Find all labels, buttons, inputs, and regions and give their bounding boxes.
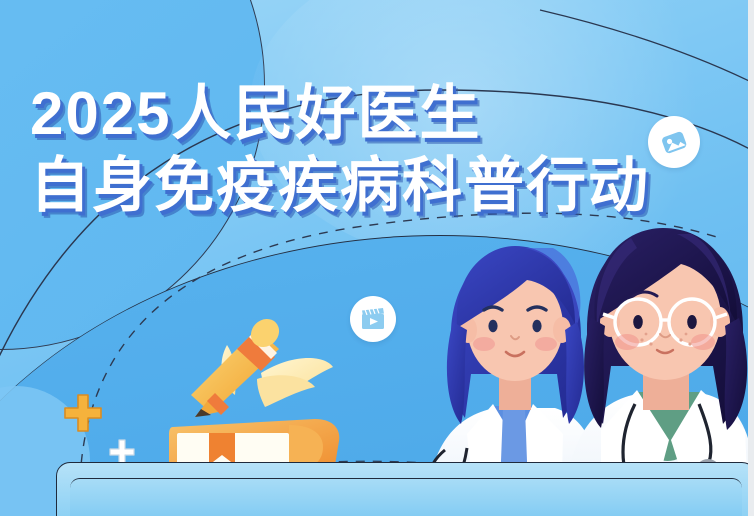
image-icon [659, 127, 689, 157]
video-badge[interactable] [350, 296, 396, 342]
title-line-2: 自身免疫疾病科普行动 [30, 154, 650, 218]
desk-lip [70, 478, 742, 516]
page-right-margin [748, 0, 754, 516]
campaign-banner: 2025人民好医生 自身免疫疾病科普行动 [0, 0, 748, 516]
video-clapperboard-icon [359, 305, 387, 333]
banner-title: 2025人民好医生 自身免疫疾病科普行动 [30, 82, 650, 217]
plus-mark-gold [62, 392, 104, 434]
title-line-1: 2025人民好医生 [30, 82, 650, 146]
image-badge[interactable] [648, 116, 700, 168]
